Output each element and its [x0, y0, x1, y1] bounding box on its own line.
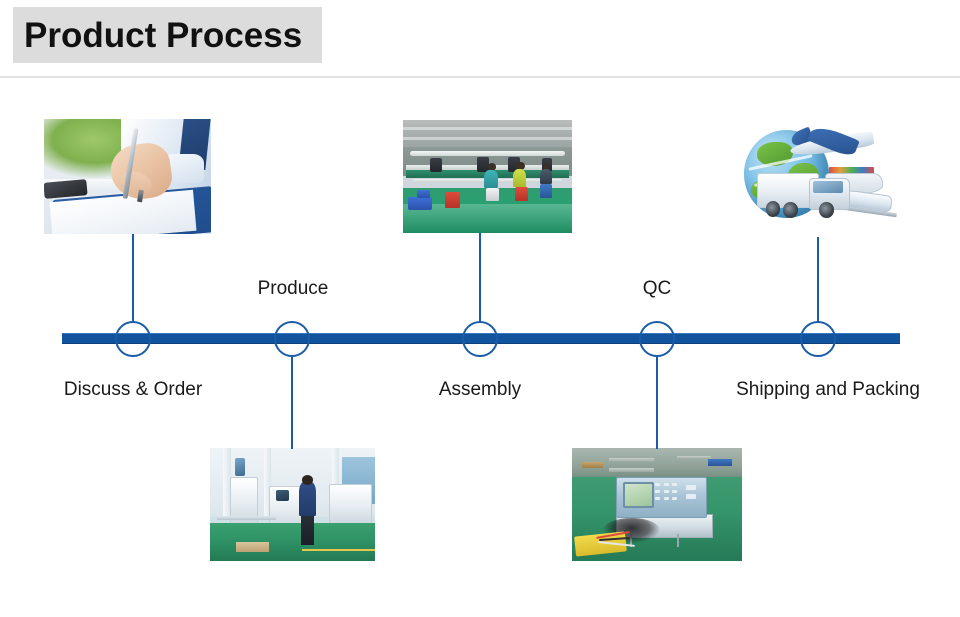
connector-line-5	[817, 237, 819, 322]
step-label-discuss-order: Discuss & Order	[64, 379, 202, 401]
timeline-node-3[interactable]	[462, 321, 498, 357]
timeline-node-1[interactable]	[115, 321, 151, 357]
connector-line-1	[132, 234, 134, 322]
qc-photo	[572, 448, 742, 561]
connector-line-2	[291, 357, 293, 449]
page-title: Product Process	[13, 18, 302, 53]
connector-line-3	[479, 233, 481, 322]
timeline-node-4[interactable]	[639, 321, 675, 357]
shipping-packing-photo	[738, 118, 900, 237]
discuss-order-photo	[44, 119, 211, 234]
header-divider	[0, 76, 960, 78]
assembly-photo	[403, 120, 572, 233]
step-label-assembly: Assembly	[439, 379, 521, 401]
produce-photo	[210, 448, 375, 561]
timeline-node-2[interactable]	[274, 321, 310, 357]
step-label-shipping-packing: Shipping and Packing	[736, 379, 920, 401]
step-label-qc: QC	[643, 278, 672, 300]
connector-line-4	[656, 357, 658, 449]
timeline-node-5[interactable]	[800, 321, 836, 357]
slide-canvas: Product Process	[0, 0, 960, 617]
step-label-produce: Produce	[258, 278, 329, 300]
page-title-box: Product Process	[13, 7, 322, 63]
